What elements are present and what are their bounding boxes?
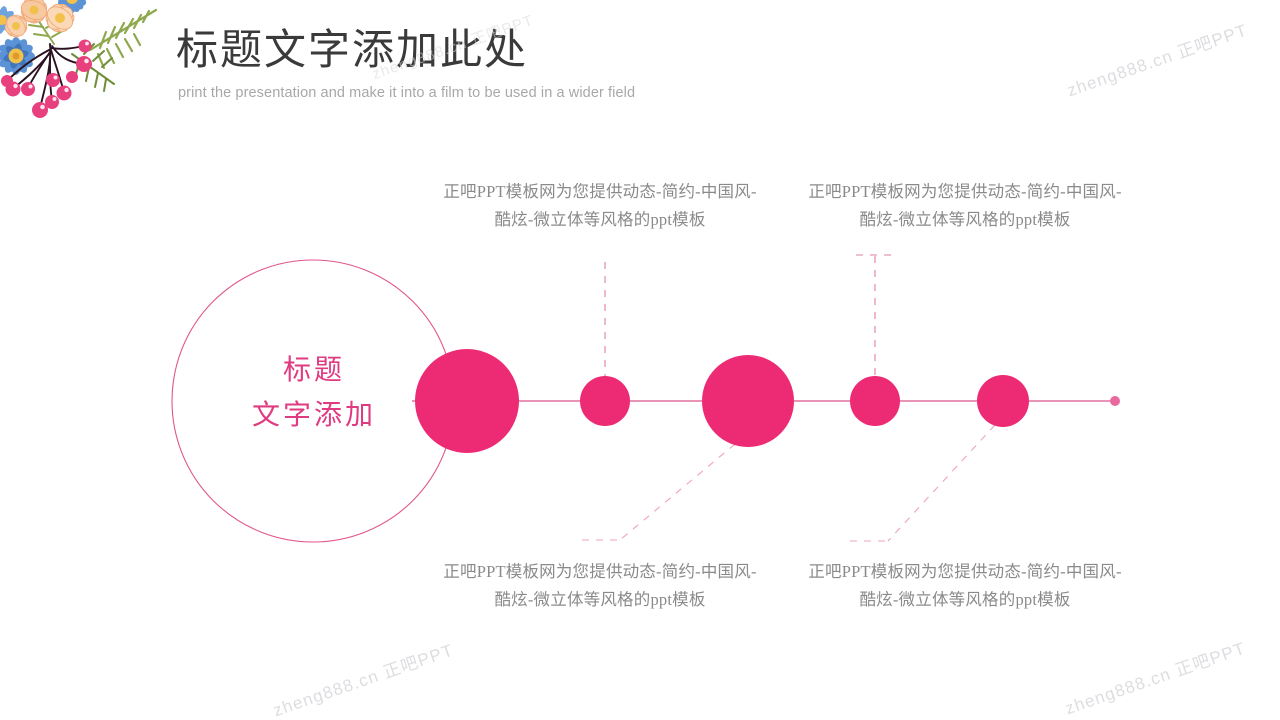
presentation-slide: 标题文字添加此处 print the presentation and make… — [0, 0, 1280, 720]
timeline-node-1[interactable] — [415, 349, 519, 453]
connector-top-right — [856, 255, 894, 376]
timeline-end-dot — [1110, 396, 1120, 406]
timeline-node-4[interactable] — [850, 376, 900, 426]
callout-text-top-left: 正吧PPT模板网为您提供动态-简约-中国风-酷炫-微立体等风格的ppt模板 — [440, 178, 760, 235]
callout-text-bottom-left: 正吧PPT模板网为您提供动态-简约-中国风-酷炫-微立体等风格的ppt模板 — [440, 558, 760, 615]
timeline-node-2[interactable] — [580, 376, 630, 426]
connector-bottom-right — [850, 425, 995, 541]
callout-text-top-right: 正吧PPT模板网为您提供动态-简约-中国风-酷炫-微立体等风格的ppt模板 — [805, 178, 1125, 235]
callout-text-bottom-right: 正吧PPT模板网为您提供动态-简约-中国风-酷炫-微立体等风格的ppt模板 — [805, 558, 1125, 615]
timeline-node-5[interactable] — [977, 375, 1029, 427]
connector-bottom-left — [582, 444, 735, 540]
timeline-node-3[interactable] — [702, 355, 794, 447]
outline-ring — [172, 260, 454, 542]
